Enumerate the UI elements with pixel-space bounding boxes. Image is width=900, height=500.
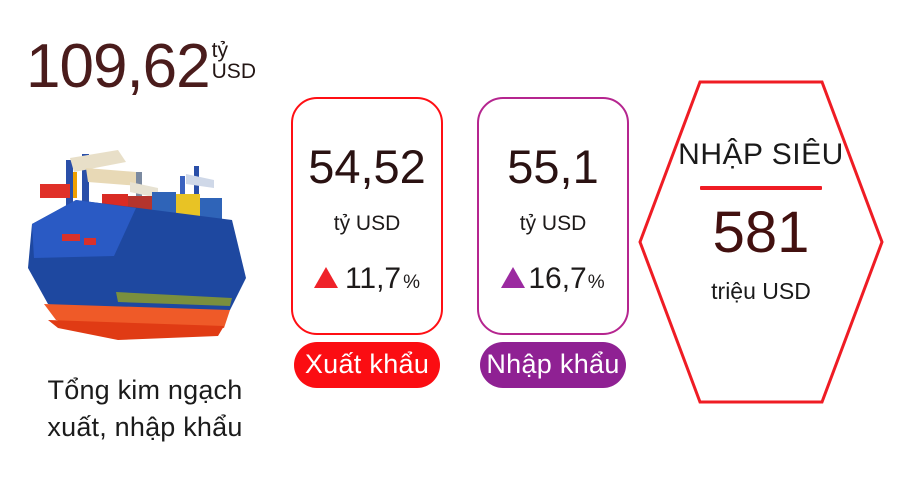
total-caption-line1: Tổng kim ngạch (0, 372, 290, 409)
export-value: 54,52 (308, 143, 426, 190)
total-headline: 109,62 tỷ USD (26, 38, 256, 95)
total-value: 109,62 (26, 38, 210, 95)
export-label-pill[interactable]: Xuất khẩu (294, 342, 440, 388)
total-unit-line2: USD (212, 61, 256, 82)
total-unit: tỷ USD (212, 40, 256, 83)
import-value: 55,1 (507, 143, 598, 190)
total-turnover-block: 109,62 tỷ USD (0, 0, 290, 500)
hexagon-outline (640, 82, 882, 402)
total-caption-line2: xuất, nhập khẩu (0, 409, 290, 446)
total-unit-line1: tỷ (212, 40, 228, 61)
import-label-pill[interactable]: Nhập khẩu (480, 342, 626, 388)
export-unit: tỷ USD (334, 212, 401, 236)
export-label: Xuất khẩu (305, 349, 429, 380)
trade-deficit-hexagon: NHẬP SIÊU 581 triệu USD (636, 76, 886, 408)
container-ship-illustration (18, 128, 270, 346)
infographic-canvas: 109,62 tỷ USD (0, 0, 900, 500)
total-caption: Tổng kim ngạch xuất, nhập khẩu (0, 372, 290, 447)
export-metric-card: 54,52 tỷ USD 11,7 % (291, 97, 443, 335)
import-delta-value: 16,7 (528, 262, 586, 296)
export-delta: 11,7 % (314, 262, 420, 296)
ship-hull (28, 200, 246, 340)
import-delta-percent: % (588, 272, 605, 294)
import-label: Nhập khẩu (486, 349, 619, 380)
import-metric-card: 55,1 tỷ USD 16,7 % (477, 97, 629, 335)
export-delta-value: 11,7 (345, 262, 401, 296)
import-unit: tỷ USD (520, 212, 587, 236)
triangle-up-icon (501, 267, 525, 288)
export-delta-percent: % (403, 272, 420, 294)
triangle-up-icon (314, 267, 338, 288)
import-delta: 16,7 % (501, 262, 604, 296)
